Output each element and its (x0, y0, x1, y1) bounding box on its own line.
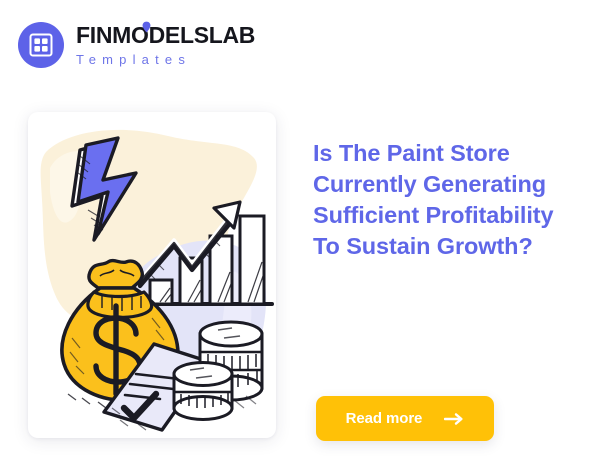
page-title: Is The Paint Store Currently Generating … (313, 138, 579, 262)
read-more-button[interactable]: Read more (316, 396, 494, 441)
illustration-card (28, 112, 276, 438)
brand-header[interactable]: FINMODELSLAB Templates (18, 22, 255, 68)
brand-title-text: FINMODELSLAB (76, 22, 255, 48)
brand-title: FINMODELSLAB (76, 24, 255, 47)
brand-wordmark: FINMODELSLAB Templates (76, 24, 255, 66)
grid-squares-icon (18, 22, 64, 68)
location-pin-icon (142, 21, 151, 36)
finance-growth-illustration (28, 112, 276, 438)
read-more-label: Read more (346, 410, 423, 427)
brand-subtitle: Templates (76, 53, 255, 66)
arrow-right-icon (444, 412, 464, 426)
